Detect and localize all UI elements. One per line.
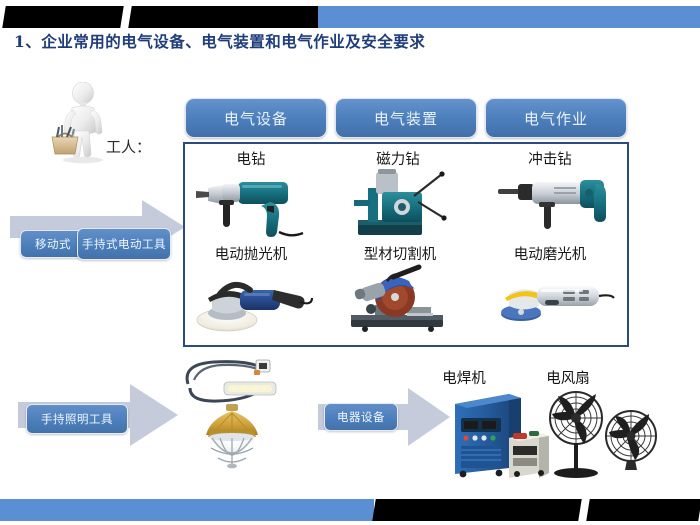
tool-label-impact-drill: 冲击钻 [495, 148, 605, 169]
tag-label: 电器设备 [337, 409, 385, 425]
magnetic-drill-icon [352, 166, 452, 240]
bottom-decoration-bar [0, 499, 700, 520]
header-button-label: 电气装置 [374, 108, 438, 129]
top-bar-black-2 [128, 6, 321, 28]
explosion-proof-lamp-icon [196, 404, 268, 478]
electric-polisher-icon [194, 268, 314, 336]
header-button-electrical-equipment[interactable]: 电气设备 [185, 98, 327, 138]
tag-label: 手持式电动工具 [82, 236, 166, 252]
electric-grinder-icon [497, 272, 615, 330]
tool-label-profile-cutting-machine: 型材切割机 [335, 243, 465, 264]
tag-handheld-power-tools[interactable]: 手持式电动工具 [77, 228, 171, 260]
top-bar-black-1 [2, 6, 123, 28]
tag-label: 手持照明工具 [41, 411, 113, 427]
tool-label-electric-polisher: 电动抛光机 [186, 243, 316, 264]
top-bar-blue [318, 6, 700, 28]
tag-electrical-appliances[interactable]: 电器设备 [324, 403, 398, 431]
tool-label-electric-grinder: 电动磨光机 [485, 243, 615, 264]
worker-label: 工人： [106, 136, 151, 157]
electric-fan-icon [534, 388, 664, 480]
appliance-label-electric-fan: 电风扇 [510, 367, 626, 388]
impact-drill-icon [496, 176, 614, 238]
bottom-bar-black-1 [372, 499, 581, 521]
handheld-work-light-icon [174, 358, 284, 406]
header-button-electrical-work[interactable]: 电气作业 [485, 98, 627, 138]
bottom-bar-blue [0, 499, 374, 521]
appliance-label-welding-machine: 电焊机 [406, 367, 522, 388]
electric-drill-icon [192, 170, 310, 238]
bottom-bar-black-2 [586, 499, 700, 521]
tag-handheld-lighting-tools[interactable]: 手持照明工具 [26, 404, 128, 434]
slide-canvas: 1、企业常用的电气设备、电气装置和电气作业及安全要求 电气设备 电气装置 电气作… [0, 0, 700, 525]
header-button-label: 电气作业 [524, 108, 588, 129]
profile-cutting-machine-icon [345, 263, 457, 335]
page-title: 1、企业常用的电气设备、电气装置和电气作业及安全要求 [14, 30, 654, 52]
header-button-label: 电气设备 [224, 108, 288, 129]
tag-label: 移动式 [35, 236, 71, 252]
header-button-electrical-device[interactable]: 电气装置 [335, 98, 477, 138]
tool-label-electric-drill: 电钻 [196, 148, 306, 169]
top-decoration-bar [0, 6, 700, 28]
